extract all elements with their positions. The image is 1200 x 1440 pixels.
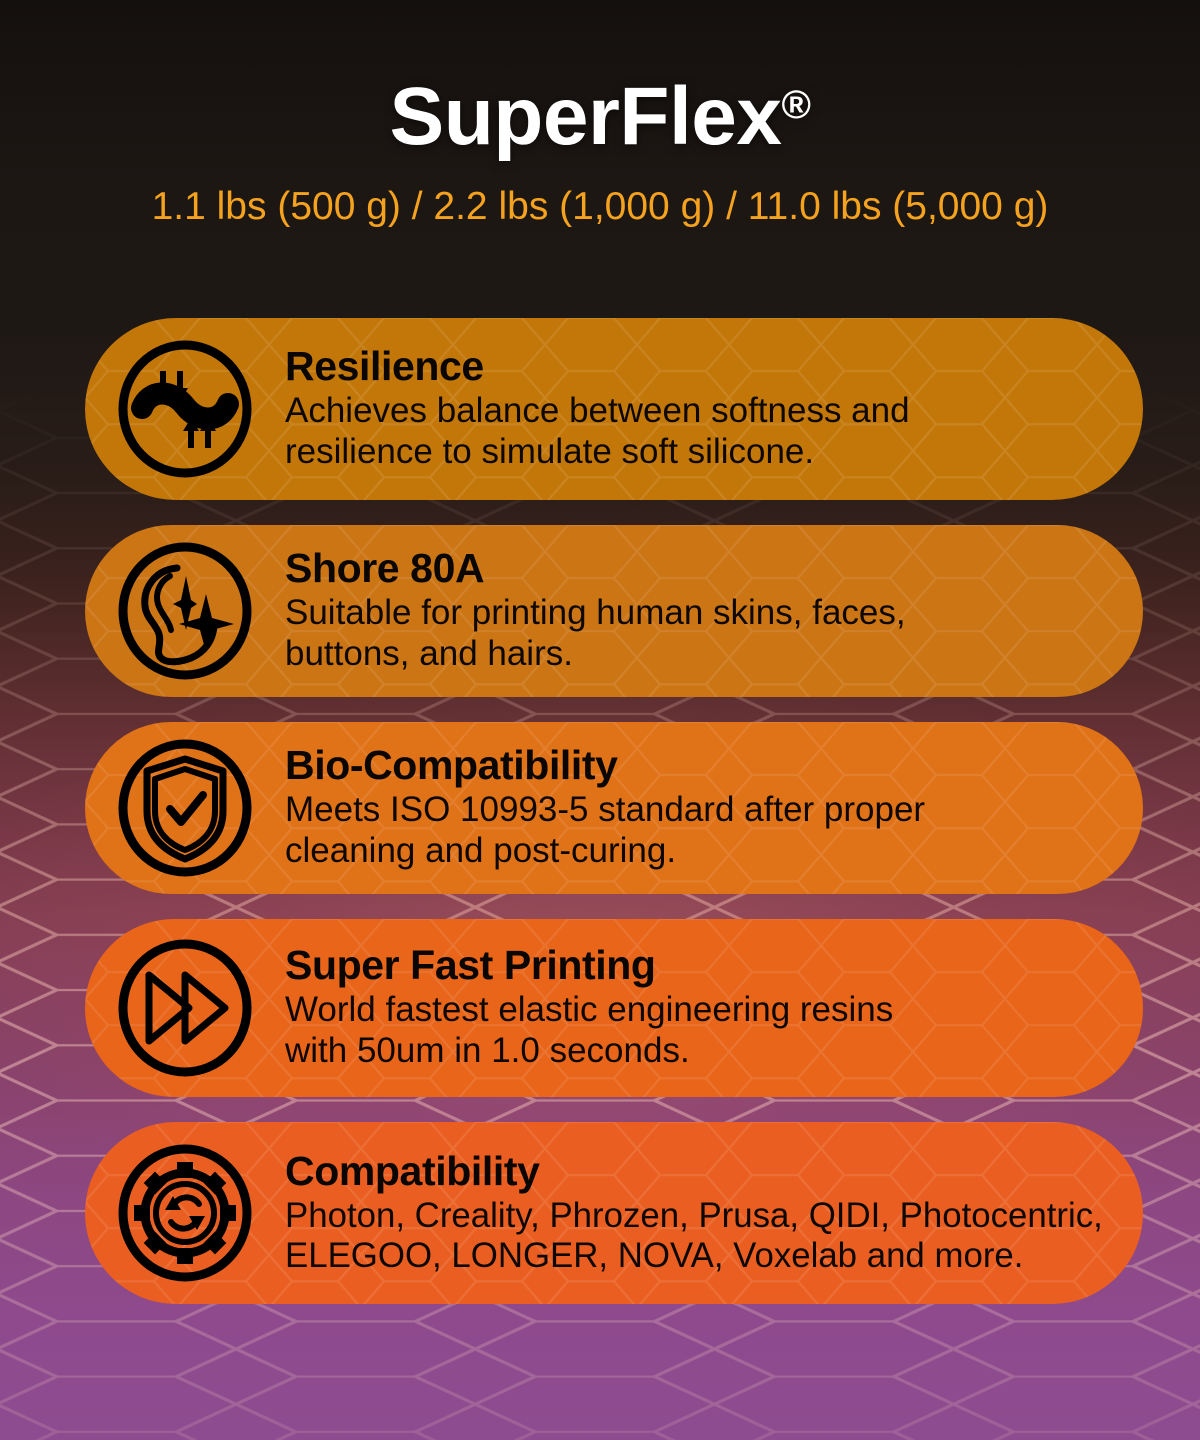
fast-forward-icon xyxy=(85,937,285,1079)
face-sparkle-icon xyxy=(85,540,285,682)
feature-description: World fastest elastic engineering resins… xyxy=(285,987,1103,1071)
header: SuperFlex® 1.1 lbs (500 g) / 2.2 lbs (1,… xyxy=(0,0,1200,229)
registered-trademark-symbol: ® xyxy=(781,83,810,127)
gear-sync-icon xyxy=(85,1142,285,1284)
shield-check-icon xyxy=(85,737,285,879)
feature-description-line: Photon, Creality, Phrozen, Prusa, QIDI, … xyxy=(285,1196,1103,1236)
feature-description: Suitable for printing human skins, faces… xyxy=(285,590,1103,674)
package-sizes: 1.1 lbs (500 g) / 2.2 lbs (1,000 g) / 11… xyxy=(0,158,1200,229)
feature-title: Compatibility xyxy=(285,1150,1103,1193)
feature-card-bio-compatibility[interactable]: Bio-Compatibility Meets ISO 10993-5 stan… xyxy=(85,722,1143,894)
feature-card-shore-80a[interactable]: Shore 80A Suitable for printing human sk… xyxy=(85,525,1143,697)
feature-description-line: Meets ISO 10993-5 standard after proper xyxy=(285,790,1103,831)
feature-text-resilience: Resilience Achieves balance between soft… xyxy=(285,345,1143,472)
feature-title: Resilience xyxy=(285,345,1103,388)
feature-description: Achieves balance between softness and re… xyxy=(285,388,1103,472)
feature-card-super-fast-printing[interactable]: Super Fast Printing World fastest elasti… xyxy=(85,919,1143,1097)
feature-title: Bio-Compatibility xyxy=(285,744,1103,787)
product-title: SuperFlex® xyxy=(0,0,1200,158)
resilience-wave-icon xyxy=(85,338,285,480)
feature-card-resilience[interactable]: Resilience Achieves balance between soft… xyxy=(85,318,1143,500)
feature-card-compatibility[interactable]: Compatibility Photon, Creality, Phrozen,… xyxy=(85,1122,1143,1304)
feature-description: Meets ISO 10993-5 standard after proper … xyxy=(285,787,1103,871)
feature-title: Super Fast Printing xyxy=(285,944,1103,987)
feature-description-line: with 50um in 1.0 seconds. xyxy=(285,1031,1103,1072)
feature-description-line: buttons, and hairs. xyxy=(285,634,1103,675)
feature-card-list: Resilience Achieves balance between soft… xyxy=(85,318,1143,1329)
feature-description-line: resilience to simulate soft silicone. xyxy=(285,432,1103,473)
feature-text-super-fast-printing: Super Fast Printing World fastest elasti… xyxy=(285,944,1143,1071)
feature-description-line: ELEGOO, LONGER, NOVA, Voxelab and more. xyxy=(285,1236,1103,1276)
feature-description-line: Suitable for printing human skins, faces… xyxy=(285,593,1103,634)
product-title-text: SuperFlex xyxy=(390,71,782,162)
feature-text-bio-compatibility: Bio-Compatibility Meets ISO 10993-5 stan… xyxy=(285,744,1143,871)
feature-description-line: Achieves balance between softness and xyxy=(285,391,1103,432)
product-feature-graphic: SuperFlex® 1.1 lbs (500 g) / 2.2 lbs (1,… xyxy=(0,0,1200,1440)
feature-text-shore-80a: Shore 80A Suitable for printing human sk… xyxy=(285,547,1143,674)
feature-description: Photon, Creality, Phrozen, Prusa, QIDI, … xyxy=(285,1193,1103,1277)
feature-title: Shore 80A xyxy=(285,547,1103,590)
feature-description-line: World fastest elastic engineering resins xyxy=(285,990,1103,1031)
feature-description-line: cleaning and post-curing. xyxy=(285,831,1103,872)
feature-text-compatibility: Compatibility Photon, Creality, Phrozen,… xyxy=(285,1150,1143,1277)
